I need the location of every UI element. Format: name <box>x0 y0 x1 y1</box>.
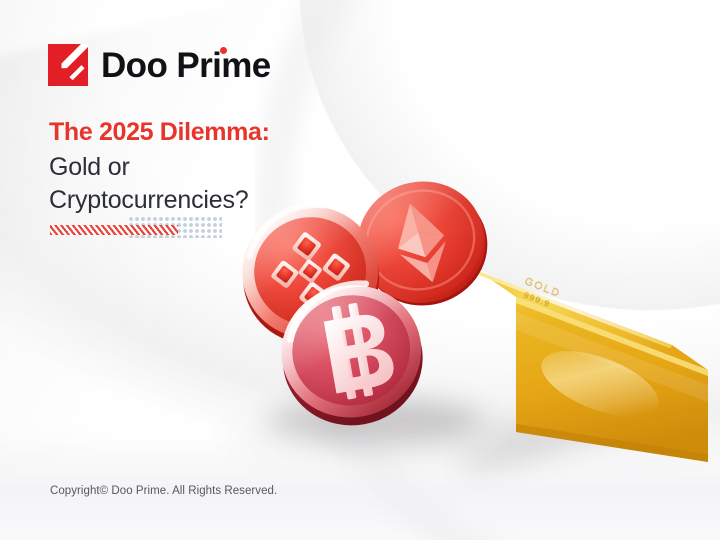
copyright-text: Copyright© Doo Prime. All Rights Reserve… <box>50 485 277 497</box>
red-hatched-bar-icon <box>50 225 178 235</box>
brand-wordmark-text: Doo Prime <box>101 46 271 85</box>
headline-block: The 2025 Dilemma: Gold or Cryptocurrenci… <box>49 118 379 217</box>
brand-wordmark: Doo Prime <box>101 48 271 83</box>
headline-line-2: Gold or <box>49 151 379 184</box>
headline-line-3: Cryptocurrencies? <box>49 184 379 217</box>
doo-prime-mark-icon <box>48 44 88 86</box>
brand-logo[interactable]: Doo Prime <box>48 44 271 86</box>
poster-canvas: Doo Prime The 2025 Dilemma: Gold or Cryp… <box>0 0 720 540</box>
headline-line-1: The 2025 Dilemma: <box>49 118 379 148</box>
brand-dot-accent <box>220 47 227 54</box>
decorative-strip <box>50 216 220 240</box>
